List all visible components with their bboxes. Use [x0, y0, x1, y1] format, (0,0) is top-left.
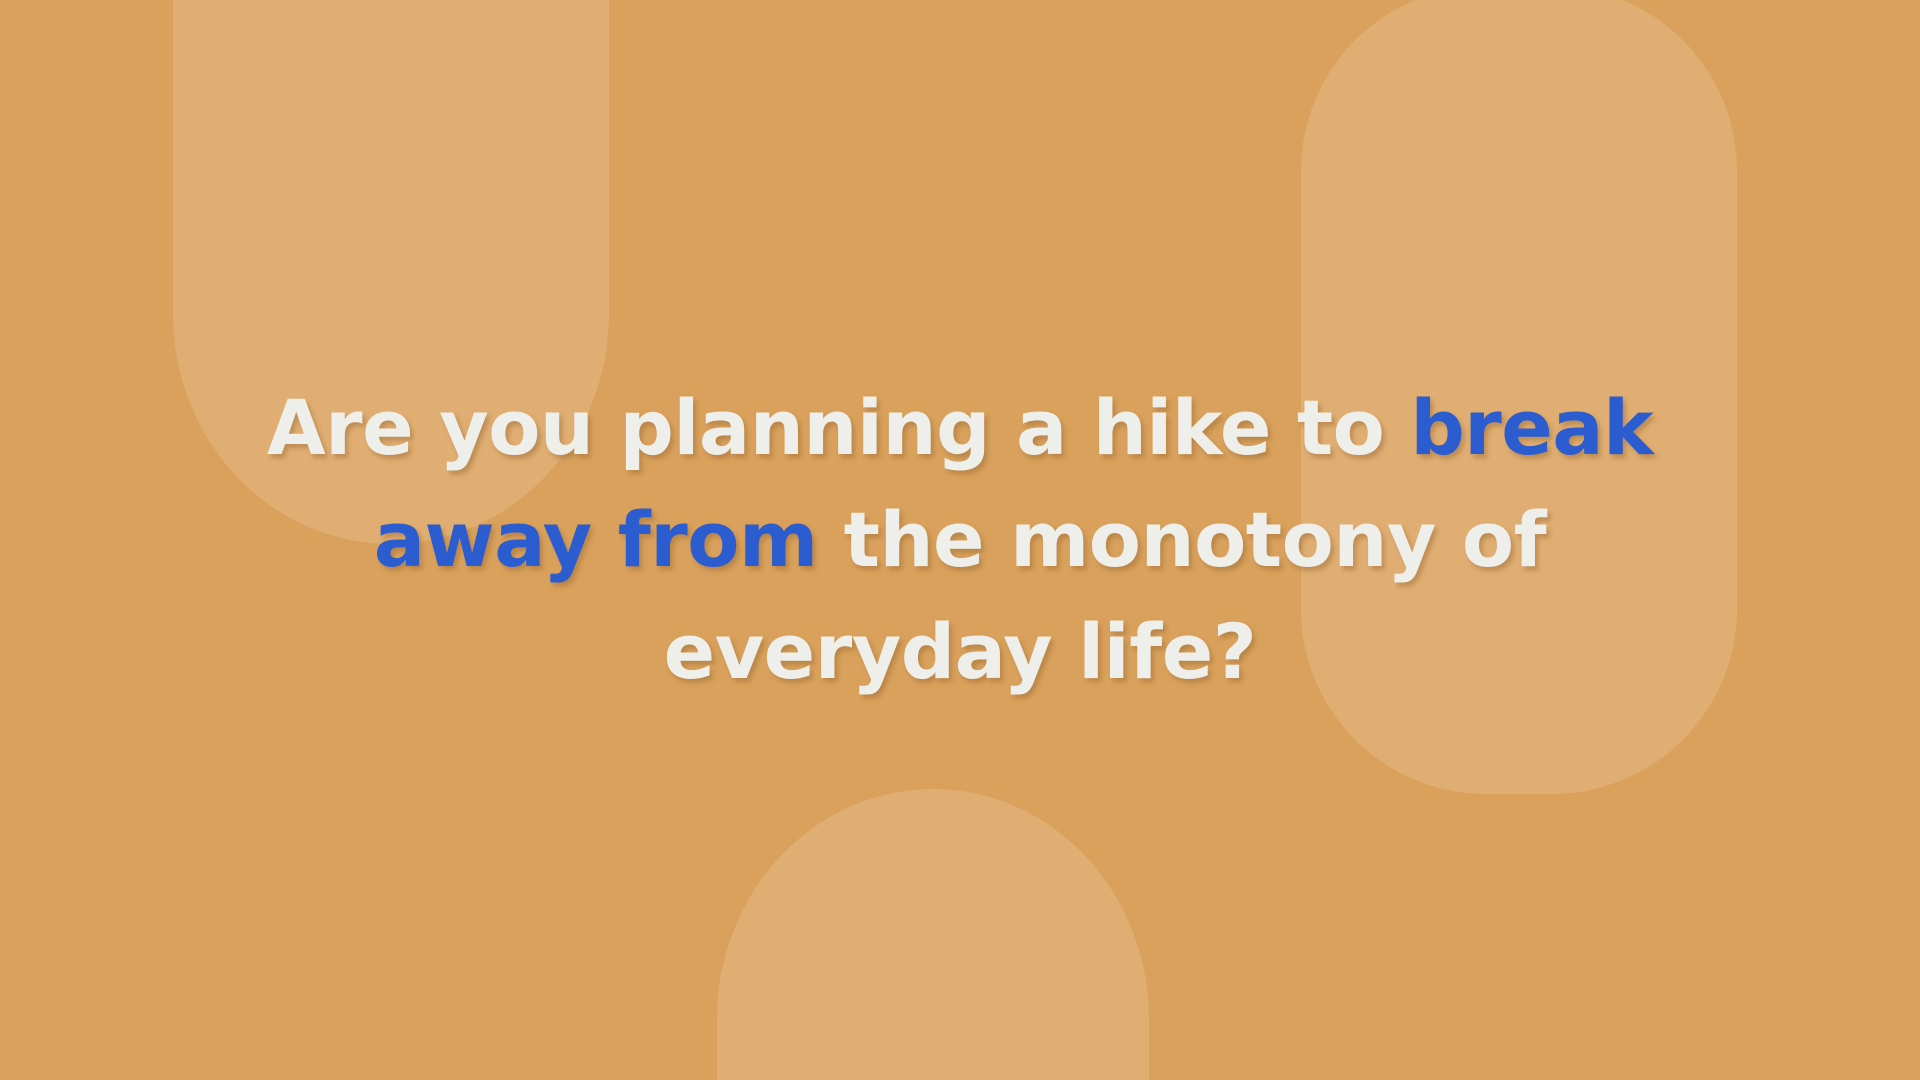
- headline-line-3: everyday life?: [150, 596, 1770, 708]
- headline-line-2: away from the monotony of: [150, 484, 1770, 596]
- headline-line-2-accent: away from: [374, 495, 844, 584]
- headline-line-1-plain: Are you planning a hike to: [267, 383, 1411, 472]
- headline-line-1: Are you planning a hike to break: [150, 372, 1770, 484]
- headline-line-2-plain: the monotony of: [844, 495, 1547, 584]
- headline-line-3-plain: everyday life?: [664, 607, 1257, 696]
- slide-canvas: Are you planning a hike to break away fr…: [0, 0, 1920, 1080]
- headline-line-1-accent: break: [1410, 383, 1653, 472]
- decorative-pill-bottom-center: [717, 789, 1149, 1080]
- headline-text: Are you planning a hike to break away fr…: [0, 372, 1920, 708]
